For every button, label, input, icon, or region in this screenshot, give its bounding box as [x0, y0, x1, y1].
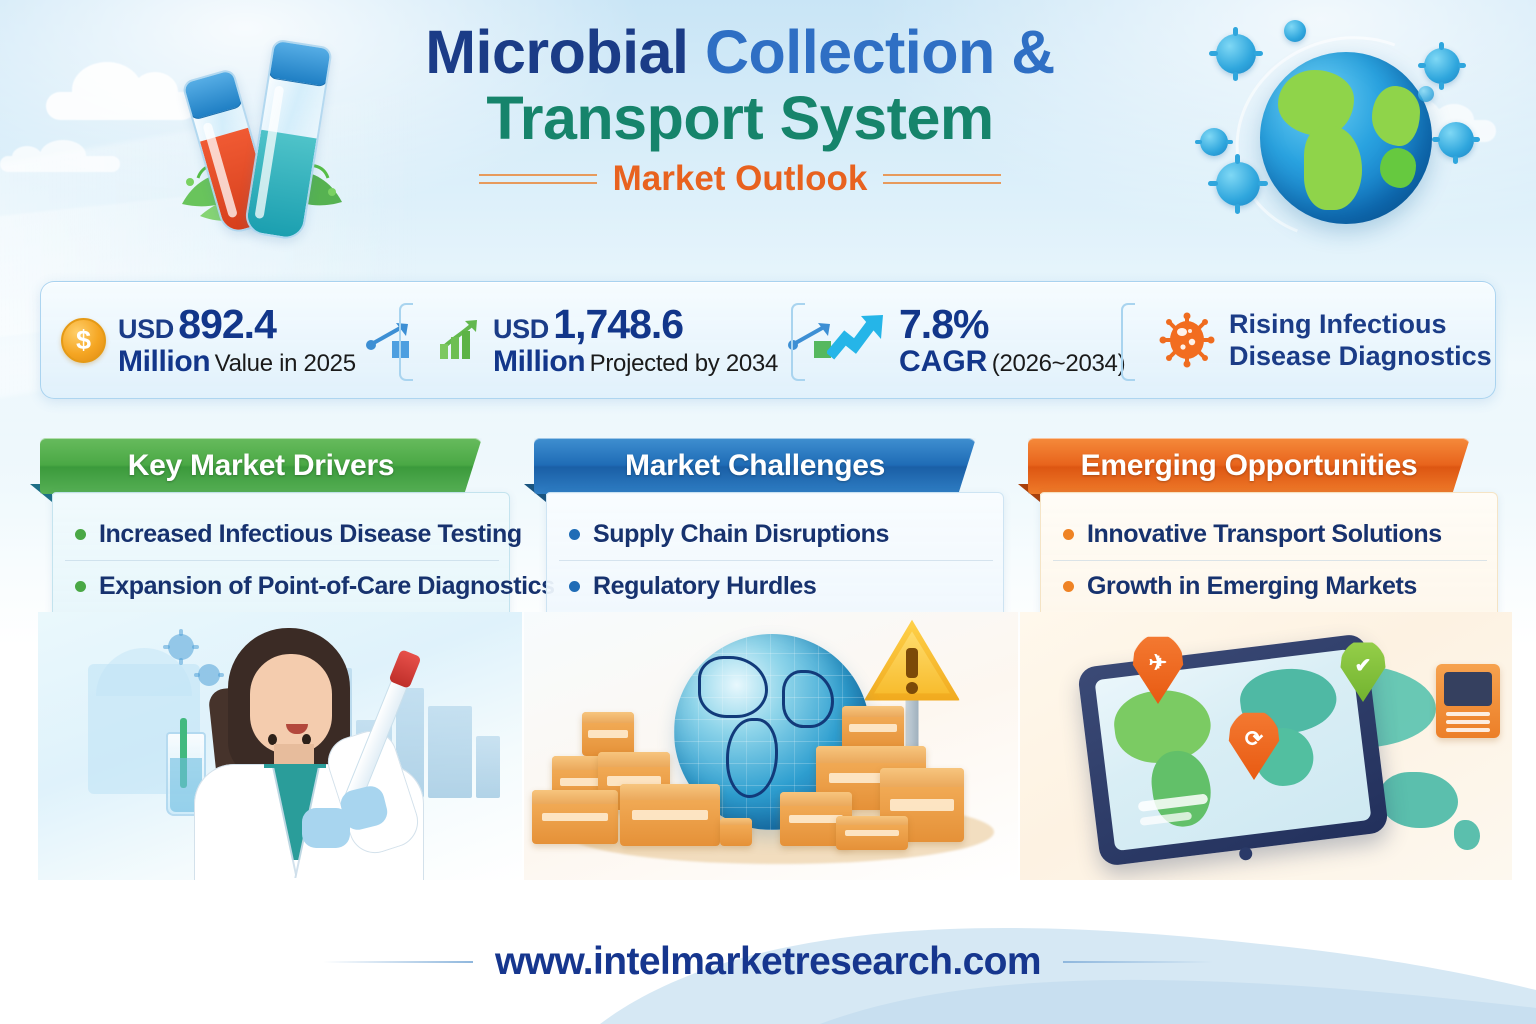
list-item-label: Regulatory Hurdles — [593, 572, 816, 601]
stat-key-trend: Rising Infectious Disease Diagnostics — [1125, 297, 1491, 383]
green-bar-chart-icon — [437, 318, 483, 362]
bullet-dot-icon — [569, 529, 580, 540]
title-word-microbial: Microbial — [425, 18, 705, 86]
globe-with-virus-particles-illustration — [1198, 16, 1478, 256]
virus-particle-icon — [1216, 34, 1256, 74]
panel-body-challenges: Supply Chain Disruptions Regulatory Hurd… — [546, 492, 1004, 632]
list-item: Supply Chain Disruptions — [559, 509, 993, 560]
panel-title: Emerging Opportunities — [1081, 449, 1418, 483]
list-item: Innovative Transport Solutions — [1053, 509, 1487, 560]
location-pin-check-icon: ✔ — [1338, 640, 1388, 702]
list-item: Regulatory Hurdles — [559, 560, 993, 612]
panel-title: Market Challenges — [625, 449, 885, 483]
location-pin-orange-icon: ✈ — [1130, 634, 1186, 704]
bullet-dot-icon — [569, 581, 580, 592]
stat-projected-2034: USD 1,748.6 Million Projected by 2034 — [403, 297, 795, 383]
virus-icon — [1159, 312, 1215, 368]
dollar-coin-icon: $ — [61, 318, 106, 363]
page-subtitle: Market Outlook — [613, 159, 868, 199]
footer-rule-left — [323, 961, 473, 963]
panel-body-opportunities: Innovative Transport Solutions Growth in… — [1040, 492, 1498, 632]
list-item-label: Innovative Transport Solutions — [1087, 520, 1442, 549]
location-pin-refresh-icon: ⟳ — [1226, 710, 1282, 780]
virus-particle-icon — [1424, 48, 1460, 84]
list-item-label: Expansion of Point-of-Care Diagnostics — [99, 572, 555, 601]
virus-particle-icon — [198, 664, 220, 686]
stat-label: CAGR — [899, 345, 987, 378]
warning-sign-icon — [864, 618, 960, 704]
virus-particle-icon — [168, 634, 194, 660]
title-word-collection: Collection & — [705, 18, 1055, 86]
virus-particle-icon — [1418, 86, 1434, 102]
stat-currency: USD — [493, 314, 549, 344]
list-item-label: Supply Chain Disruptions — [593, 520, 889, 549]
bullet-dot-icon — [1063, 581, 1074, 592]
stat-currency: USD — [118, 314, 174, 344]
footer-rule-right — [1063, 961, 1213, 963]
infographic-canvas: Microbial Collection & Transport System … — [0, 0, 1536, 1024]
bullet-dot-icon — [1063, 529, 1074, 540]
scientist-face — [250, 654, 332, 754]
clipboard-icon — [1436, 664, 1500, 738]
stat-market-value-2025: $ USD 892.4 Million Value in 2025 — [41, 297, 403, 383]
stat-value: 7.8% — [899, 301, 988, 347]
globe-icon — [1260, 52, 1432, 224]
stat-caption: Projected by 2034 — [590, 350, 778, 377]
stat-caption: (2026~2034) — [992, 350, 1125, 377]
list-item: Increased Infectious Disease Testing — [65, 509, 499, 560]
list-item-label: Increased Infectious Disease Testing — [99, 520, 522, 549]
panel-header-opportunities: Emerging Opportunities — [1028, 438, 1470, 494]
panel-body-drivers: Increased Infectious Disease Testing Exp… — [52, 492, 510, 632]
stat-unit: Million — [493, 345, 585, 378]
title-line-two: Transport System — [330, 83, 1150, 155]
cyan-growth-arrow-icon — [827, 312, 889, 368]
cardboard-box — [842, 706, 904, 750]
stat-trend-line1: Rising Infectious — [1229, 308, 1492, 340]
list-item: Growth in Emerging Markets — [1053, 560, 1487, 612]
stat-value: 1,748.6 — [553, 301, 683, 347]
list-item-label: Growth in Emerging Markets — [1087, 572, 1417, 601]
footer: www.intelmarketresearch.com — [0, 922, 1536, 1002]
list-item: Expansion of Point-of-Care Diagnostics — [65, 560, 499, 612]
bullet-dot-icon — [75, 529, 86, 540]
stat-cagr: 7.8% CAGR (2026~2034) — [795, 297, 1125, 383]
stat-caption: Value in 2025 — [215, 350, 356, 377]
virus-particle-icon — [1284, 20, 1306, 42]
website-url[interactable]: www.intelmarketresearch.com — [495, 940, 1041, 984]
stat-value: 892.4 — [178, 301, 276, 347]
panel-header-drivers: Key Market Drivers — [40, 438, 482, 494]
bullet-dot-icon — [75, 581, 86, 592]
cardboard-box — [582, 712, 634, 756]
panel-title: Key Market Drivers — [128, 449, 394, 483]
stat-trend-line2: Disease Diagnostics — [1229, 340, 1492, 372]
header: Microbial Collection & Transport System … — [0, 0, 1536, 272]
page-title: Microbial Collection & Transport System … — [330, 22, 1150, 199]
stat-unit: Million — [118, 345, 210, 378]
key-metrics-bar: $ USD 892.4 Million Value in 2025 — [40, 281, 1496, 399]
virus-particle-icon — [1216, 162, 1260, 206]
panel-header-challenges: Market Challenges — [534, 438, 976, 494]
virus-particle-icon — [1200, 128, 1228, 156]
virus-particle-icon — [1438, 122, 1474, 158]
